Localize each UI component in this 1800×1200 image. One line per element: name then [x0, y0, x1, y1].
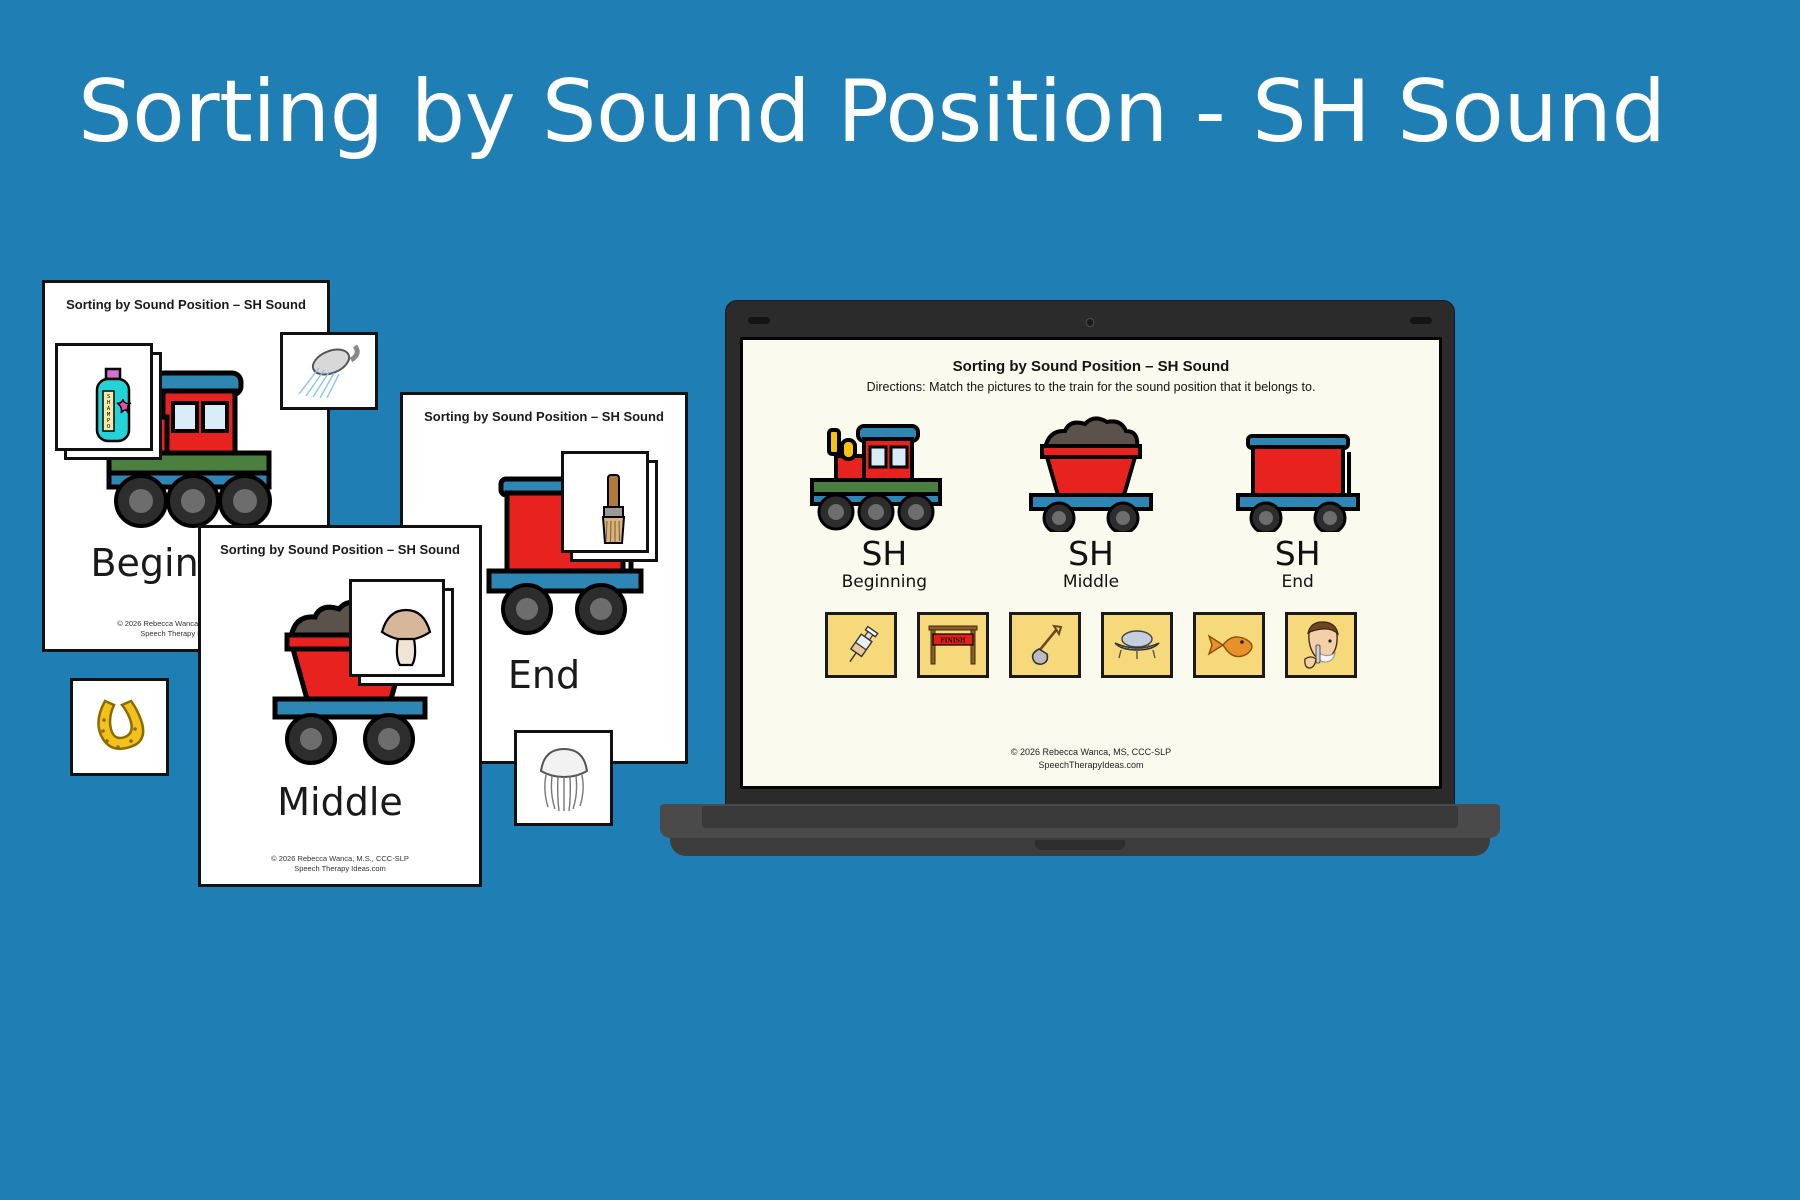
- coal-car-icon: [1011, 412, 1171, 532]
- picture-cards-row: FINISH: [743, 612, 1439, 678]
- footer-site: Speech Therapy Ideas.com: [201, 864, 479, 874]
- horseshoe-card[interactable]: [70, 678, 169, 776]
- position-label: Beginning: [789, 572, 979, 592]
- shaving-man-icon: [1297, 619, 1345, 671]
- fish-card[interactable]: [1193, 612, 1265, 678]
- shampoo-bottle-icon: S H A M P O: [91, 367, 135, 445]
- jellyfish-icon: [533, 743, 595, 813]
- worksheet-title: Sorting by Sound Position – SH Sound: [201, 542, 479, 557]
- finish-card[interactable]: FINISH: [917, 612, 989, 678]
- worksheet-title: Sorting by Sound Position – SH Sound: [403, 409, 685, 424]
- shower-head-icon: [293, 342, 365, 400]
- position-label: Middle: [996, 572, 1186, 592]
- finish-line-icon: FINISH: [925, 622, 981, 668]
- laptop-screen[interactable]: Sorting by Sound Position – SH Sound Dir…: [743, 340, 1439, 786]
- lid-tab-left-icon: [748, 317, 770, 324]
- mushroom-icon: [378, 606, 434, 668]
- shaving-card[interactable]: [1285, 612, 1357, 678]
- svg-text:O: O: [107, 424, 110, 430]
- screen-bezel: Sorting by Sound Position – SH Sound Dir…: [740, 337, 1442, 789]
- paintbrush-card[interactable]: [570, 460, 658, 562]
- shampoo-card[interactable]: S H A M P O: [64, 352, 162, 460]
- worksheet-position-label: Middle: [201, 780, 479, 824]
- syringe-icon: [836, 620, 886, 670]
- train-cell-middle[interactable]: SH Middle: [996, 412, 1186, 592]
- worksheet-footer: © 2026 Rebecca Wanca, M.S., CCC-SLP Spee…: [201, 854, 479, 874]
- train-row: SH Beginning: [743, 412, 1439, 592]
- screen-directions: Directions: Match the pictures to the tr…: [743, 380, 1439, 394]
- shovel-card[interactable]: [1009, 612, 1081, 678]
- finish-banner-text: FINISH: [940, 637, 966, 644]
- spaceship-icon: [1109, 625, 1165, 665]
- shower-card[interactable]: [280, 332, 378, 410]
- shovel-icon: [1021, 621, 1069, 669]
- shot-card[interactable]: [825, 612, 897, 678]
- screen-footer-site: SpeechTherapyIdeas.com: [743, 759, 1439, 772]
- laptop-base-inner: [702, 806, 1458, 828]
- footer-copyright: © 2026 Rebecca Wanca, M.S., CCC-SLP: [201, 854, 479, 864]
- position-label: End: [1203, 572, 1393, 592]
- laptop-mockup: Sorting by Sound Position – SH Sound Dir…: [660, 300, 1500, 870]
- webcam-icon: [1086, 318, 1095, 327]
- laptop-lid: Sorting by Sound Position – SH Sound Dir…: [725, 300, 1455, 808]
- laptop-trackpad-notch: [1035, 840, 1125, 850]
- sound-label: SH: [1203, 537, 1393, 572]
- train-cell-end[interactable]: SH End: [1203, 412, 1393, 592]
- jellyfish-card[interactable]: [514, 730, 613, 826]
- paintbrush-icon: [594, 473, 634, 549]
- train-cell-beginning[interactable]: SH Beginning: [789, 412, 979, 592]
- sound-label: SH: [996, 537, 1186, 572]
- page-title: Sorting by Sound Position - SH Sound: [78, 62, 1666, 162]
- horseshoe-icon: [89, 695, 151, 759]
- sound-label: SH: [789, 537, 979, 572]
- caboose-icon: [1218, 412, 1378, 532]
- fish-icon: [1203, 628, 1255, 662]
- screen-footer-copyright: © 2026 Rebecca Wanca, MS, CCC-SLP: [743, 746, 1439, 759]
- screen-footer: © 2026 Rebecca Wanca, MS, CCC-SLP Speech…: [743, 746, 1439, 772]
- locomotive-icon: [796, 412, 972, 532]
- lid-tab-right-icon: [1410, 317, 1432, 324]
- mushroom-card[interactable]: [358, 588, 454, 686]
- worksheet-title: Sorting by Sound Position – SH Sound: [45, 297, 327, 312]
- screen-title: Sorting by Sound Position – SH Sound: [743, 358, 1439, 375]
- spaceship-card[interactable]: [1101, 612, 1173, 678]
